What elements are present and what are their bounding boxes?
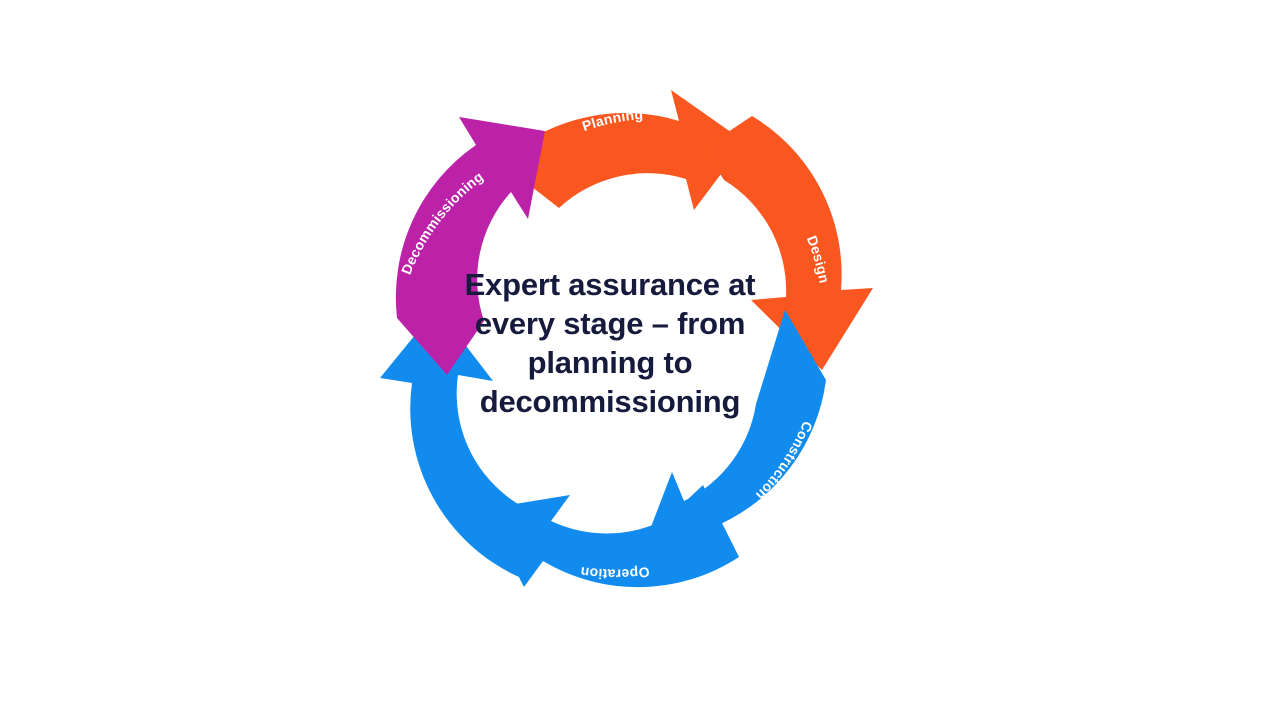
segment-operation-label: Operation xyxy=(579,564,650,583)
diagram-canvas: Planning Design Construction Operation xyxy=(0,0,1280,720)
segment-upgrade-label: Upgrade xyxy=(381,392,402,453)
center-headline: Expert assurance at every stage – from p… xyxy=(450,265,770,421)
